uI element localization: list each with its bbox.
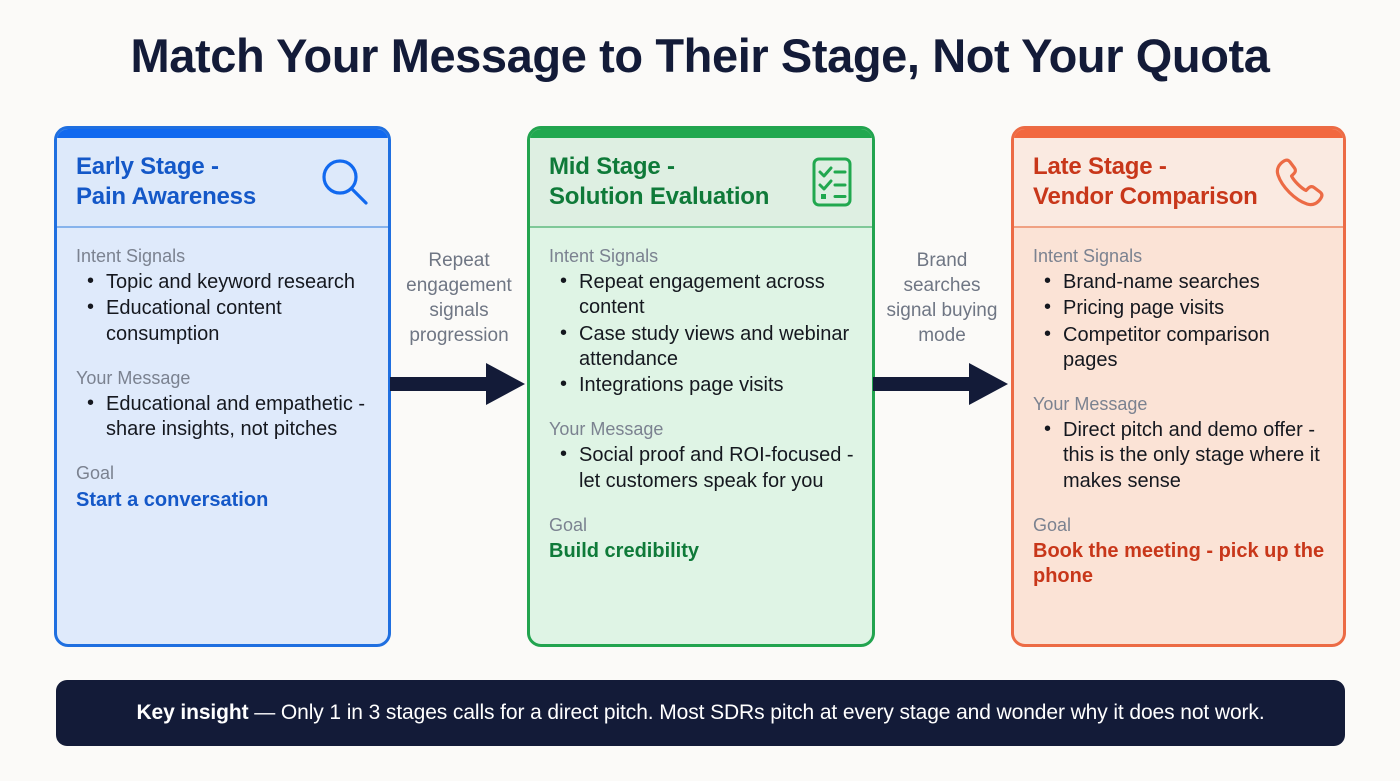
card-header-mid: Mid Stage - Solution Evaluation (530, 138, 872, 228)
list-item: Educational content consumption (84, 296, 370, 346)
arrow-right-icon-2 (873, 360, 1011, 408)
key-insight-banner: Key insight — Only 1 in 3 stages calls f… (56, 680, 1345, 746)
goal-text-mid: Build credibility (549, 539, 854, 564)
stage-card-late: Late Stage - Vendor Comparison Intent Si… (1011, 126, 1346, 647)
card-body-early: Intent Signals Topic and keyword researc… (57, 228, 388, 529)
list-item: Case study views and webinar attendance (557, 322, 854, 372)
list-item: Direct pitch and demo offer - this is th… (1041, 418, 1325, 494)
connector-early-to-mid: Repeat engagement signals progression (390, 248, 528, 348)
goal-text-early: Start a conversation (76, 488, 370, 513)
section-label-message-late: Your Message (1033, 392, 1325, 416)
intent-signals-list-early: Topic and keyword research Educational c… (84, 270, 370, 347)
your-message-list-early: Educational and empathetic - share insig… (84, 392, 370, 442)
list-item: Pricing page visits (1041, 296, 1325, 321)
list-item: Social proof and ROI-focused - let custo… (557, 443, 854, 493)
key-insight-body: — Only 1 in 3 stages calls for a direct … (249, 701, 1265, 724)
intent-signals-list-mid: Repeat engagement across content Case st… (557, 270, 854, 398)
list-item: Educational and empathetic - share insig… (84, 392, 370, 442)
card-title-mid: Mid Stage - Solution Evaluation (549, 152, 799, 213)
page-title: Match Your Message to Their Stage, Not Y… (0, 28, 1400, 83)
infographic-page: Match Your Message to Their Stage, Not Y… (0, 0, 1400, 781)
card-accent-bar-mid (530, 129, 872, 138)
connector-mid-to-late: Brand searches signal buying mode (873, 248, 1011, 348)
card-title-early: Early Stage - Pain Awareness (76, 152, 326, 213)
phone-icon (1271, 156, 1327, 215)
list-item: Integrations page visits (557, 373, 854, 398)
list-item: Topic and keyword research (84, 270, 370, 295)
key-insight-text: Key insight — Only 1 in 3 stages calls f… (136, 701, 1264, 725)
card-accent-bar-early (57, 129, 388, 138)
section-label-goal-late: Goal (1033, 513, 1325, 537)
search-icon (318, 156, 372, 215)
your-message-list-mid: Social proof and ROI-focused - let custo… (557, 443, 854, 493)
intent-signals-list-late: Brand-name searches Pricing page visits … (1041, 270, 1325, 373)
list-item: Competitor comparison pages (1041, 323, 1325, 373)
stage-card-mid: Mid Stage - Solution Evaluation Intent S… (527, 126, 875, 647)
list-item: Brand-name searches (1041, 270, 1325, 295)
card-header-early: Early Stage - Pain Awareness (57, 138, 388, 228)
section-label-message-early: Your Message (76, 366, 370, 390)
arrow-right-icon-1 (390, 360, 528, 408)
connector-label-2: Brand searches signal buying mode (873, 248, 1011, 348)
card-header-late: Late Stage - Vendor Comparison (1014, 138, 1343, 228)
section-label-intent-mid: Intent Signals (549, 244, 854, 268)
checklist-icon (808, 156, 856, 213)
section-label-goal-mid: Goal (549, 513, 854, 537)
connector-label-1: Repeat engagement signals progression (390, 248, 528, 348)
section-label-goal-early: Goal (76, 461, 370, 485)
stage-card-early: Early Stage - Pain Awareness Intent Sign… (54, 126, 391, 647)
goal-text-late: Book the meeting - pick up the phone (1033, 539, 1325, 589)
card-body-late: Intent Signals Brand-name searches Prici… (1014, 228, 1343, 606)
card-accent-bar-late (1014, 129, 1343, 138)
section-label-intent-late: Intent Signals (1033, 244, 1325, 268)
key-insight-label: Key insight (136, 701, 248, 724)
list-item: Repeat engagement across content (557, 270, 854, 320)
section-label-message-mid: Your Message (549, 417, 854, 441)
your-message-list-late: Direct pitch and demo offer - this is th… (1041, 418, 1325, 494)
section-label-intent-early: Intent Signals (76, 244, 370, 268)
card-body-mid: Intent Signals Repeat engagement across … (530, 228, 872, 580)
card-title-late: Late Stage - Vendor Comparison (1033, 152, 1283, 213)
